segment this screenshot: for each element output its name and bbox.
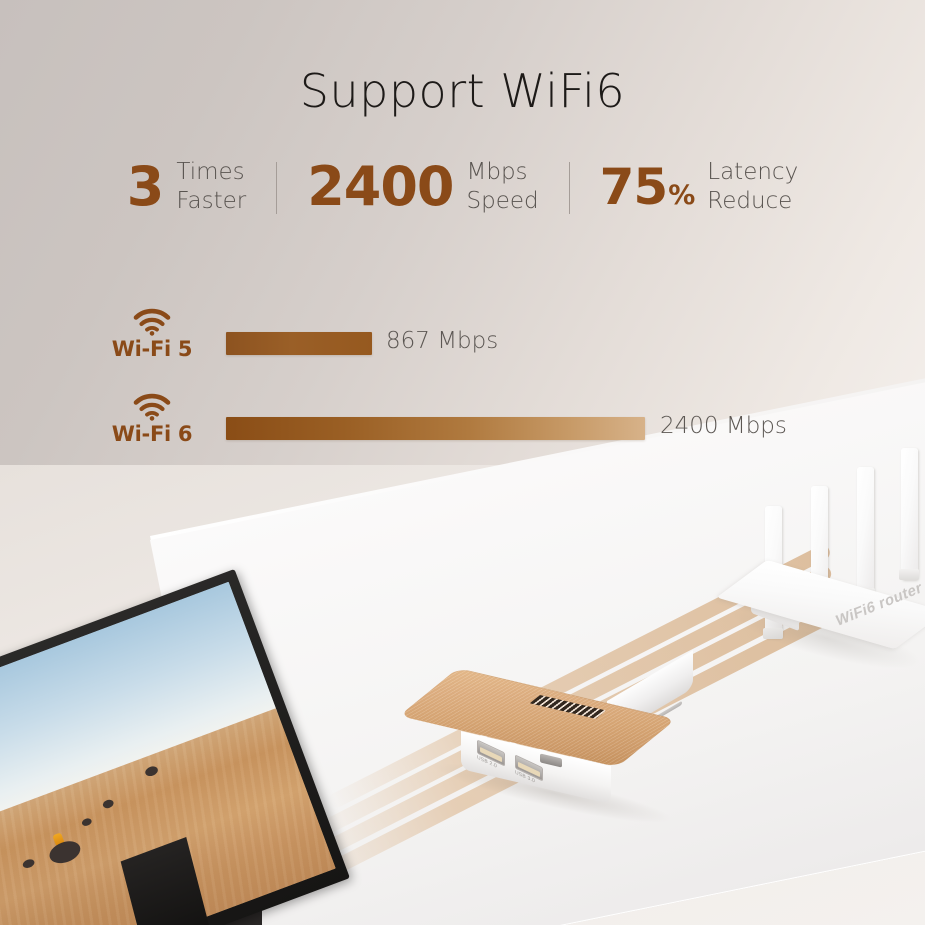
stat-divider-1 bbox=[276, 162, 277, 214]
stat-value: 3 bbox=[127, 160, 164, 214]
wifi6-label-group: Wi-Fi 6 bbox=[100, 393, 204, 446]
stat-times-faster: 3 Times Faster bbox=[127, 158, 246, 217]
wifi6-router: WiFi6 router bbox=[745, 448, 925, 663]
stat-caption-line2: Faster bbox=[176, 187, 246, 216]
stat-number: 2400 bbox=[307, 160, 453, 214]
wifi5-bar bbox=[226, 332, 372, 355]
stat-divider-2 bbox=[569, 162, 570, 214]
wifi6-bar bbox=[226, 417, 645, 440]
router-antenna-base-4 bbox=[899, 569, 919, 580]
wifi-icon bbox=[133, 308, 171, 336]
stat-caption-line2: Speed bbox=[467, 187, 539, 216]
bar-row-wifi5: Wi-Fi 5 867 Mbps bbox=[0, 300, 925, 385]
stat-mbps-speed: 2400 Mbps Speed bbox=[307, 158, 538, 217]
stat-value: 2400 bbox=[307, 160, 453, 214]
wifi5-bar-track bbox=[226, 332, 372, 355]
stat-caption-line1: Times bbox=[176, 158, 246, 187]
stat-number: 75 bbox=[600, 162, 668, 212]
router-antenna-3 bbox=[857, 467, 874, 599]
bar-row-wifi6: Wi-Fi 6 2400 Mbps bbox=[0, 385, 925, 470]
stat-caption-line1: Latency bbox=[707, 158, 798, 187]
stat-caption-line1: Mbps bbox=[467, 158, 539, 187]
page-title: Support WiFi6 bbox=[0, 64, 925, 118]
stat-caption: Latency Reduce bbox=[707, 158, 798, 217]
promo-graphic: WiFi6 router USB 2.0 USB 3.0 Support WiF… bbox=[0, 0, 925, 925]
stat-latency-reduce: 75 % Latency Reduce bbox=[600, 158, 799, 217]
stat-caption: Mbps Speed bbox=[467, 158, 539, 217]
television bbox=[0, 548, 360, 925]
wifi6-name: Wi-Fi 6 bbox=[100, 422, 204, 446]
throughput-bar-chart: Wi-Fi 5 867 Mbps Wi-Fi 6 2400 Mbps bbox=[0, 300, 925, 470]
stat-value: 75 % bbox=[600, 162, 695, 212]
wifi5-name: Wi-Fi 5 bbox=[100, 337, 204, 361]
stat-caption-line2: Reduce bbox=[707, 187, 798, 216]
wifi5-label-group: Wi-Fi 5 bbox=[100, 308, 204, 361]
android-tv-box: USB 2.0 USB 3.0 bbox=[444, 668, 699, 803]
stat-caption: Times Faster bbox=[176, 158, 246, 217]
wifi6-bar-track bbox=[226, 417, 645, 440]
wifi6-value-label: 2400 Mbps bbox=[660, 413, 787, 439]
stats-row: 3 Times Faster 2400 Mbps Speed 75 % bbox=[0, 158, 925, 217]
stat-percent-sign: % bbox=[668, 182, 694, 209]
stat-number: 3 bbox=[127, 160, 164, 214]
wifi-icon bbox=[133, 393, 171, 421]
wifi5-value-label: 867 Mbps bbox=[386, 328, 498, 354]
